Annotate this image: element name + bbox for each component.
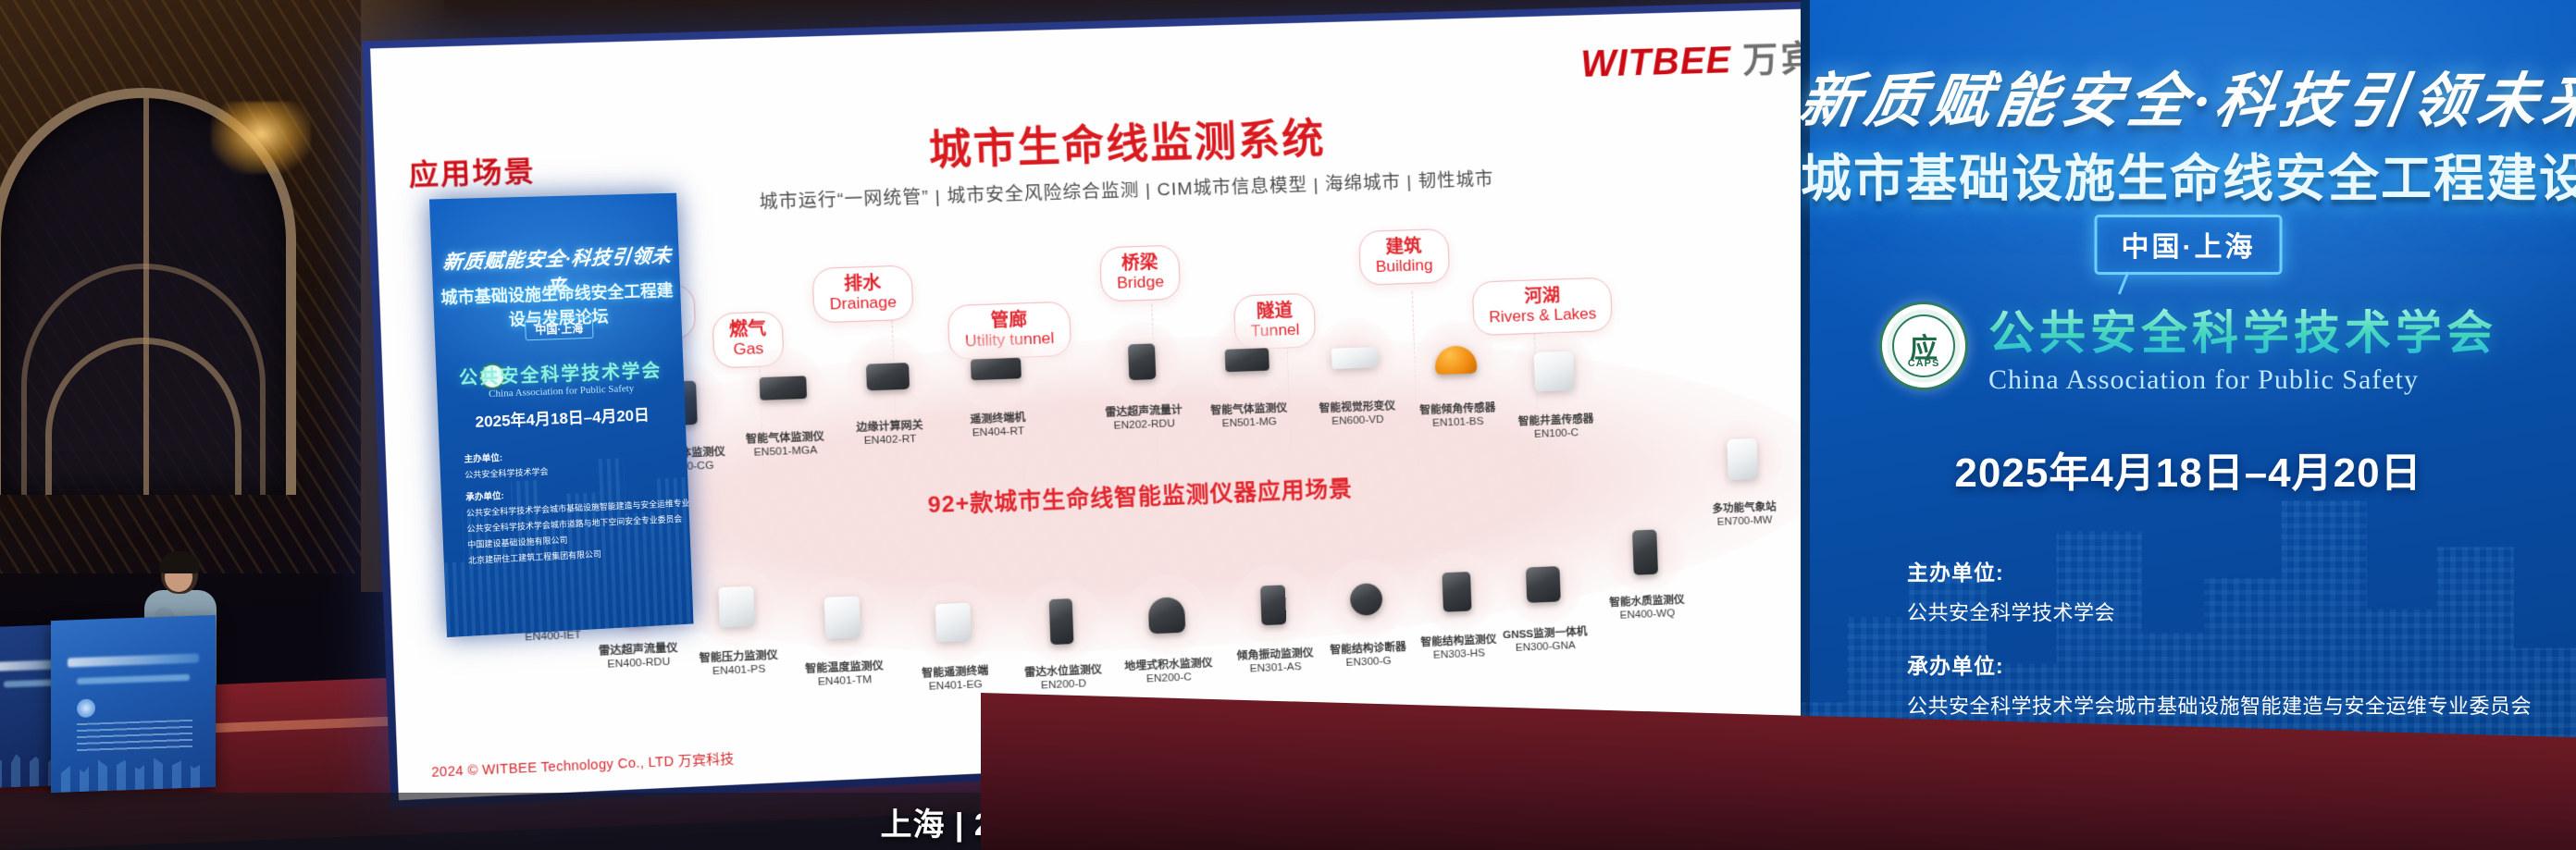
device-halo bbox=[799, 575, 886, 660]
device-icon-puck bbox=[1434, 345, 1477, 375]
podium-banner-title bbox=[77, 674, 189, 684]
stage-poster-small: 新质赋能安全·科技引领未来 城市基础设施生命线安全工程建设与发展论坛 中国·上海… bbox=[429, 193, 694, 637]
device-icon-dome bbox=[1148, 597, 1186, 634]
poster-organizers: 主办单位: 公共安全科学技术学会 承办单位: 公共安全科学技术学会城市基础设施智… bbox=[464, 441, 693, 566]
slide-copyright: 2024 © WITBEE Technology Co., LTD 万宾科技 bbox=[431, 749, 735, 782]
pill-label-cn: 建筑 bbox=[1375, 237, 1433, 259]
carousel-caption: 92+款城市生命线智能监测仪器应用场景 bbox=[927, 469, 1353, 519]
device-halo bbox=[739, 346, 826, 431]
arch-mullion bbox=[143, 98, 149, 495]
device-icon-vibration bbox=[1260, 585, 1286, 625]
organizer-1: 公共安全科学技术学会城市基础设施智能建造与安全运维专业委员会 bbox=[1907, 690, 2532, 720]
pill-label-en: Building bbox=[1375, 256, 1433, 276]
chandelier-left bbox=[211, 102, 311, 174]
device-icon-radar bbox=[1049, 598, 1074, 645]
banner-date: 2025年4月18日–4月20日 bbox=[1801, 439, 2576, 499]
scenario-pill-bridge[interactable]: 桥梁 Bridge bbox=[1099, 245, 1181, 302]
device-icon-square bbox=[1534, 351, 1575, 392]
device-icon-panel bbox=[935, 603, 972, 642]
poster-association: 公共安全科学技术学会 China Association for Public … bbox=[436, 354, 684, 401]
device-icon-panel bbox=[824, 596, 861, 639]
device-halo bbox=[845, 335, 931, 419]
conference-photo-scene: WITBEE 万宾 应用场景 城市生命线监测系统 城市运行“一网统管” | 城市… bbox=[0, 0, 2576, 850]
device-card[interactable]: 遥测终端机 EN404-RT bbox=[931, 326, 1062, 442]
device-halo bbox=[1414, 318, 1498, 401]
banner-association-text: 公共安全科学技术学会 China Association for Public … bbox=[1988, 296, 2497, 396]
witbee-logo-en: WITBEE bbox=[1580, 40, 1733, 86]
pill-label-en: Bridge bbox=[1117, 273, 1165, 292]
device-halo bbox=[1019, 579, 1105, 663]
caps-seal-abbr: CAPS bbox=[1882, 358, 1965, 369]
device-halo bbox=[1124, 573, 1209, 658]
device-halo bbox=[1512, 330, 1595, 413]
device-icon-bar bbox=[1225, 348, 1269, 372]
banner-city-chip: 中国·上海 bbox=[2095, 215, 2283, 275]
device-card[interactable]: 多功能气象站 EN700-MW bbox=[1679, 417, 1806, 531]
scenario-pill-building[interactable]: 建筑 Building bbox=[1358, 228, 1450, 286]
device-icon-sensor bbox=[1128, 343, 1156, 380]
device-icon-weather-station bbox=[1727, 438, 1758, 480]
device-halo bbox=[1604, 511, 1687, 594]
device-icon-disc bbox=[1350, 583, 1383, 616]
witbee-logo: WITBEE 万宾 bbox=[1579, 29, 1819, 87]
device-halo bbox=[693, 564, 780, 649]
device-halo bbox=[1701, 418, 1784, 501]
podium-text-lines bbox=[77, 719, 192, 754]
device-halo bbox=[1205, 318, 1290, 401]
device-halo bbox=[1502, 543, 1585, 626]
banner-forum-title: 城市基础设施生命线安全工程建设与发展论坛 bbox=[1801, 137, 2576, 211]
pill-label-en: Drainage bbox=[829, 293, 897, 314]
poster-date: 2025年4月18日–4月20日 bbox=[438, 400, 686, 434]
speaker-glasses bbox=[166, 571, 192, 575]
device-icon-panel bbox=[718, 586, 755, 628]
banner-association-row: 应 CAPS 公共安全科学技术学会 China Association for … bbox=[1801, 296, 2576, 396]
caps-seal-icon: 应 CAPS bbox=[1879, 302, 1968, 390]
organizer-label: 承办单位: bbox=[1907, 648, 2532, 680]
device-icon-struct bbox=[1442, 572, 1471, 612]
device-card[interactable]: 智能井盖传感器 EN100-C bbox=[1491, 329, 1618, 444]
podium-seal-icon bbox=[77, 698, 95, 718]
caps-seal-glyph: 应 bbox=[1882, 304, 1965, 388]
host-label: 主办单位: bbox=[1907, 555, 2532, 586]
pill-label-cn: 桥梁 bbox=[1116, 253, 1164, 274]
device-icon-gateway bbox=[866, 363, 910, 390]
banner-association-cn: 公共安全科学技术学会 bbox=[1988, 296, 2497, 363]
scenario-pill-drainage[interactable]: 排水 Drainage bbox=[811, 265, 913, 323]
device-icon-bar bbox=[760, 376, 807, 400]
device-icon-water-quality bbox=[1632, 530, 1658, 575]
device-halo bbox=[910, 580, 997, 665]
device-icon-gnss bbox=[1526, 566, 1561, 603]
host-value: 公共安全科学技术学会 bbox=[1907, 597, 2532, 626]
banner-slogan: 新质赋能安全·科技引领未来 bbox=[1801, 54, 2576, 139]
poster-city-chip: 中国·上海 bbox=[525, 317, 594, 341]
device-halo bbox=[953, 326, 1039, 411]
podium-primary bbox=[51, 615, 216, 793]
device-halo bbox=[1099, 320, 1184, 404]
pill-label-cn: 燃气 bbox=[729, 319, 767, 340]
pill-label-cn: 排水 bbox=[829, 273, 897, 295]
device-icon-terminal bbox=[971, 358, 1022, 380]
device-icon-camera bbox=[1331, 347, 1380, 369]
banner-association-en: China Association for Public Safety bbox=[1988, 364, 2497, 396]
podium-banner-slogan bbox=[68, 653, 199, 667]
device-halo bbox=[1313, 316, 1397, 400]
